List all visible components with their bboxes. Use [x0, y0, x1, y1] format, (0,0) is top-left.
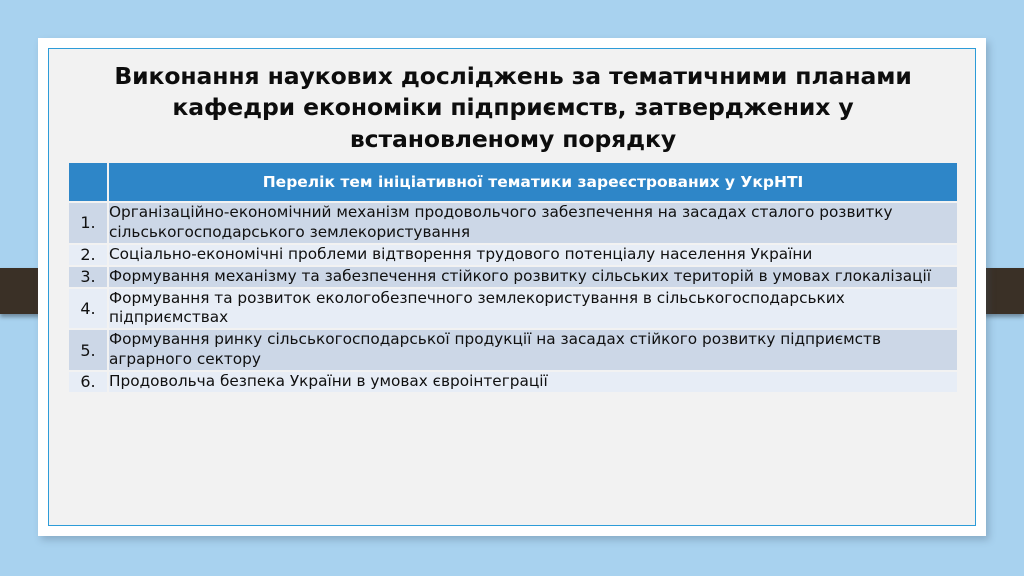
table-row: 4. Формування та розвиток екологобезпечн… — [69, 289, 957, 329]
table-header-number-cell — [69, 163, 107, 201]
table-row: 5. Формування ринку сільськогосподарсько… — [69, 330, 957, 370]
row-number: 6. — [69, 372, 107, 392]
row-topic: Продовольча безпека України в умовах євр… — [109, 372, 957, 392]
row-topic: Формування механізму та забезпечення сті… — [109, 267, 957, 287]
table-row: 3. Формування механізму та забезпечення … — [69, 267, 957, 287]
row-topic: Формування ринку сільськогосподарської п… — [109, 330, 957, 370]
row-topic: Соціально-економічні проблеми відтворенн… — [109, 245, 957, 265]
slide-inner-border: Виконання наукових досліджень за тематич… — [48, 48, 976, 526]
row-number: 2. — [69, 245, 107, 265]
row-topic: Формування та розвиток екологобезпечного… — [109, 289, 957, 329]
table-header-title-cell: Перелік тем ініціативної тематики зареєс… — [109, 163, 957, 201]
page-title: Виконання наукових досліджень за тематич… — [77, 61, 949, 155]
table-row: 2. Соціально-економічні проблеми відтвор… — [69, 245, 957, 265]
topics-table: Перелік тем ініціативної тематики зареєс… — [67, 161, 959, 394]
row-number: 3. — [69, 267, 107, 287]
row-number: 5. — [69, 330, 107, 370]
row-number: 1. — [69, 203, 107, 243]
table-header-row: Перелік тем ініціативної тематики зареєс… — [69, 163, 957, 201]
table-row: 6. Продовольча безпека України в умовах … — [69, 372, 957, 392]
slide-card: Виконання наукових досліджень за тематич… — [38, 38, 986, 536]
row-number: 4. — [69, 289, 107, 329]
table-row: 1. Організаційно-економічний механізм пр… — [69, 203, 957, 243]
row-topic: Організаційно-економічний механізм продо… — [109, 203, 957, 243]
